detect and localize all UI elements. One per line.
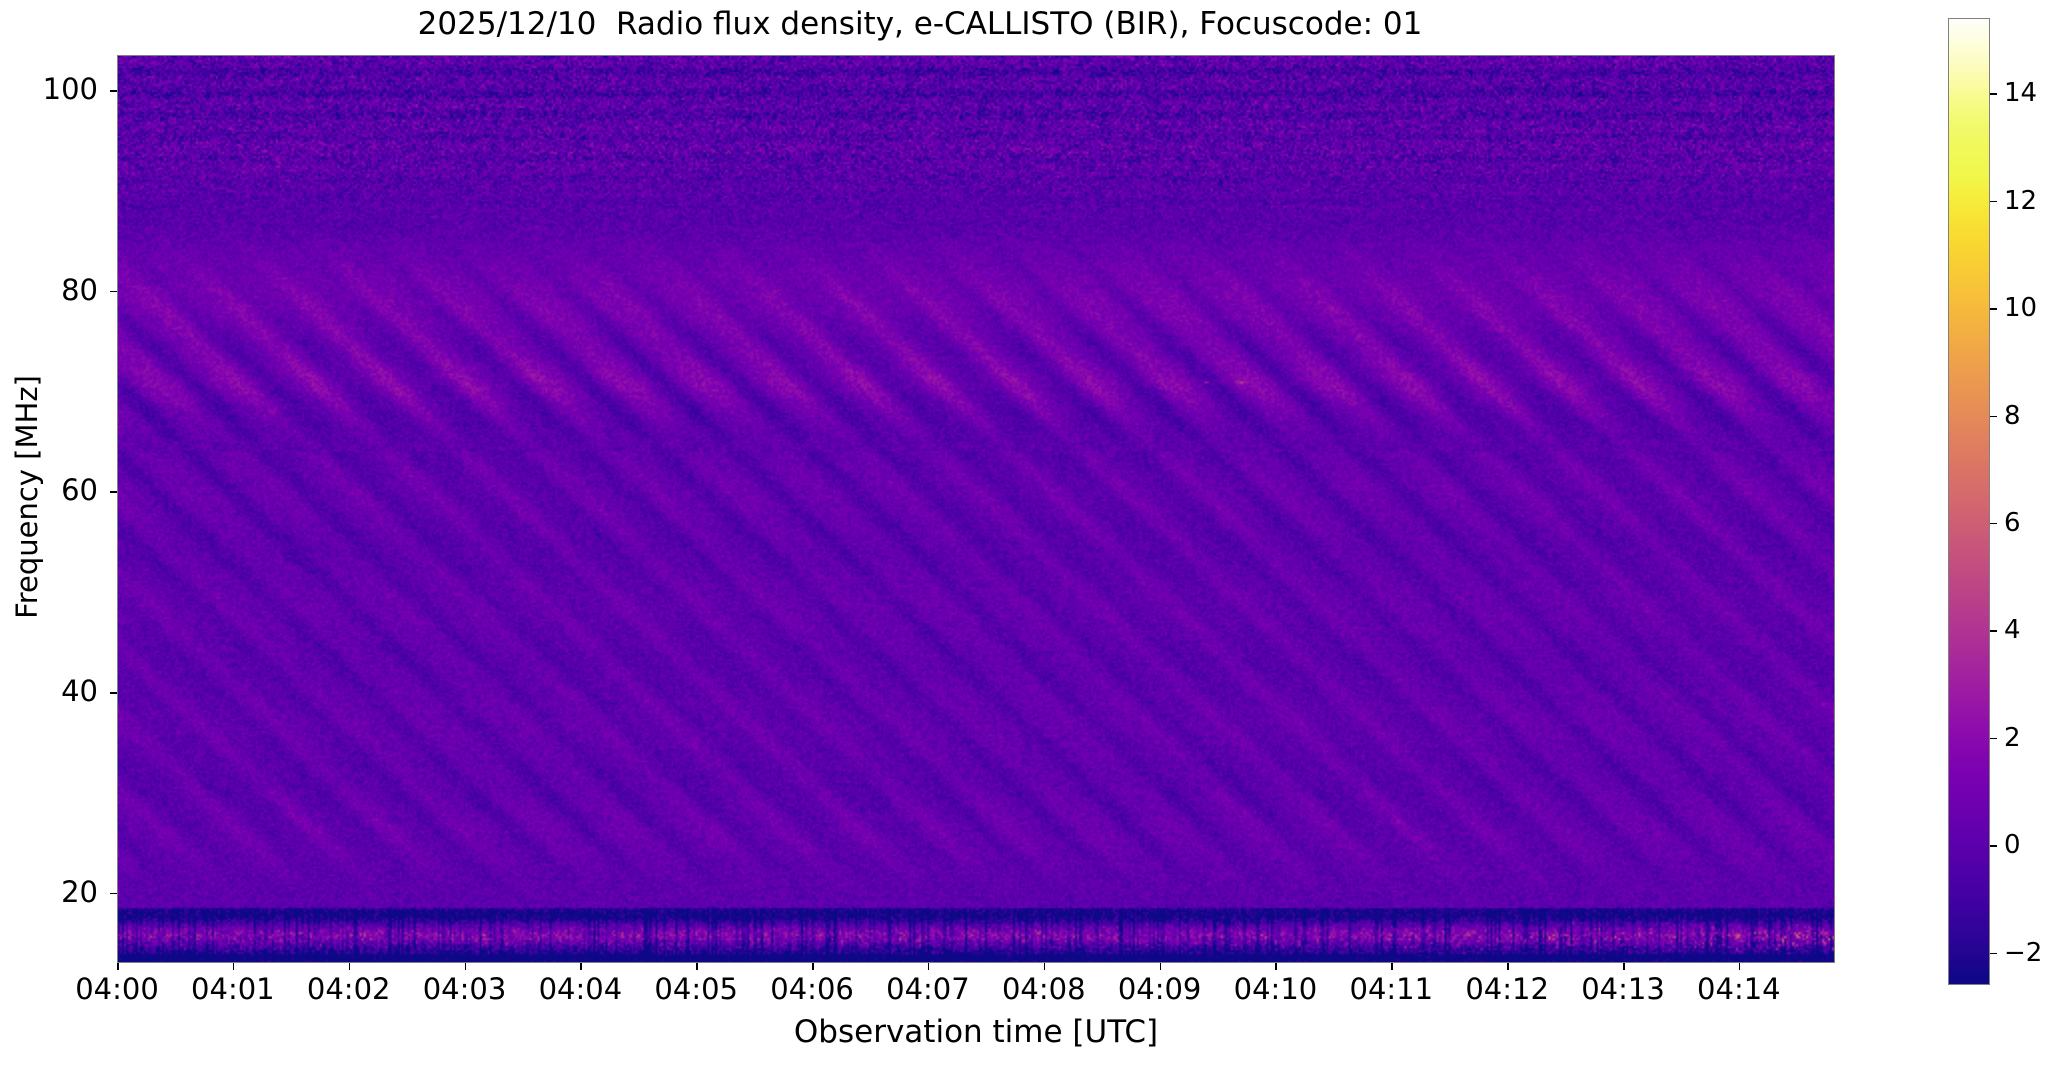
x-axis-tick-mark (1275, 963, 1277, 970)
colorbar-tick-mark (1990, 308, 1997, 310)
spectrogram-heatmap (118, 56, 1834, 962)
colorbar-tick-label: 14 (2004, 80, 2037, 106)
y-axis-label: Frequency [MHz] (10, 287, 44, 707)
y-axis-tick-mark (110, 291, 117, 293)
colorbar-tick-label: 2 (2004, 725, 2021, 751)
colorbar-tick-mark (1990, 416, 1997, 418)
x-axis-tick-mark (812, 963, 814, 970)
y-axis-tick-mark (110, 90, 117, 92)
x-axis-tick-mark (928, 963, 930, 970)
x-axis-tick-mark (1391, 963, 1393, 970)
y-axis-tick-label: 40 (38, 677, 98, 706)
y-axis-tick-label: 20 (38, 878, 98, 907)
colorbar-tick-mark (1990, 953, 1997, 955)
x-axis-tick-mark (1623, 963, 1625, 970)
colorbar-tick-label: 4 (2004, 617, 2021, 643)
x-axis-tick-mark (1160, 963, 1162, 970)
colorbar-tick-label: 6 (2004, 510, 2021, 536)
y-axis-tick-mark (110, 491, 117, 493)
colorbar-tick-label: 8 (2004, 403, 2021, 429)
y-axis-tick-label: 60 (38, 476, 98, 505)
x-axis-tick-mark (465, 963, 467, 970)
x-axis-tick-mark (696, 963, 698, 970)
x-axis-tick-mark (233, 963, 235, 970)
colorbar-tick-mark (1990, 201, 1997, 203)
colorbar-gradient (1949, 19, 1989, 984)
colorbar-tick-mark (1990, 523, 1997, 525)
colorbar-tick-mark (1990, 845, 1997, 847)
spectrogram-plot-area (117, 55, 1835, 963)
page-title: 2025/12/10 Radio flux density, e-CALLIST… (0, 6, 1840, 42)
x-axis-tick-mark (117, 963, 119, 970)
x-axis-tick-mark (1044, 963, 1046, 970)
colorbar-tick-label: 0 (2004, 832, 2021, 858)
x-axis-label: Observation time [UTC] (117, 1014, 1835, 1050)
y-axis-tick-label: 80 (38, 276, 98, 305)
colorbar-tick-label: −2 (2004, 940, 2042, 966)
colorbar-tick-mark (1990, 630, 1997, 632)
x-axis-tick-mark (1507, 963, 1509, 970)
colorbar-tick-mark (1990, 93, 1997, 95)
colorbar-tick-mark (1990, 738, 1997, 740)
y-axis-tick-label: 100 (38, 75, 98, 104)
x-axis-tick-mark (349, 963, 351, 970)
y-axis-tick-mark (110, 893, 117, 895)
colorbar (1948, 18, 1990, 985)
colorbar-tick-label: 10 (2004, 295, 2037, 321)
x-axis-tick-label: 04:14 (1664, 972, 1814, 1006)
y-axis-tick-mark (110, 692, 117, 694)
x-axis-tick-mark (580, 963, 582, 970)
x-axis-tick-mark (1739, 963, 1741, 970)
colorbar-tick-label: 12 (2004, 188, 2037, 214)
